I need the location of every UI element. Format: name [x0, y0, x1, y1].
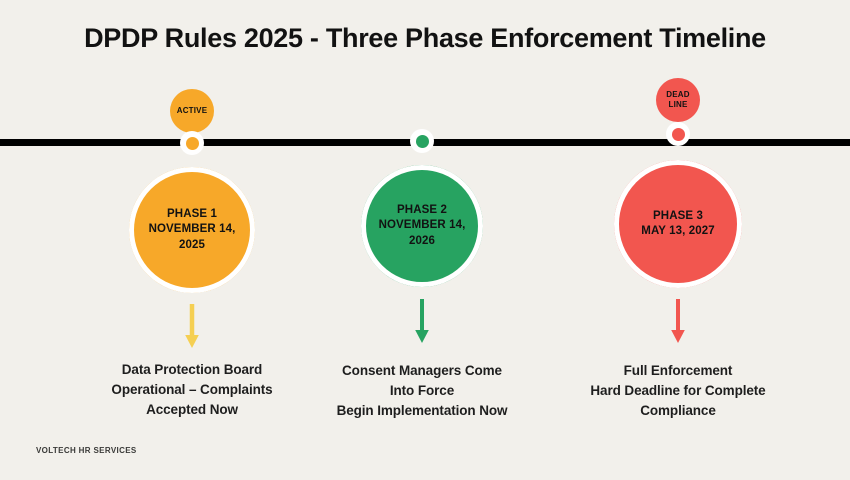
phase-description-2: Consent Managers Come Into Force Begin I…: [297, 361, 547, 421]
phase-column-3: DEAD LINE PHASE 3 MAY 13, 2027 Full Enfo…: [548, 0, 808, 480]
marker-dot-1: [186, 137, 199, 150]
phase-circle-3-label: PHASE 3 MAY 13, 2027: [629, 209, 726, 239]
phase-3-date-line1: MAY 13, 2027: [641, 224, 714, 239]
phase-2-desc-line3: Begin Implementation Now: [297, 401, 547, 421]
arrow-down-icon-3: [667, 298, 689, 349]
phase-3-desc-line2: Hard Deadline for Complete: [553, 381, 803, 401]
phase-circle-1[interactable]: PHASE 1 NOVEMBER 14, 2025: [129, 167, 255, 293]
phase-description-1: Data Protection Board Operational – Comp…: [67, 360, 317, 420]
phase-3-name: PHASE 3: [641, 209, 714, 224]
phase-2-name: PHASE 2: [379, 203, 466, 218]
phase-1-desc-line2: Operational – Complaints: [67, 380, 317, 400]
phase-2-desc-line2: Into Force: [297, 381, 547, 401]
phase-1-desc-line1: Data Protection Board: [67, 360, 317, 380]
marker-dot-2: [416, 135, 429, 148]
timeline-marker-2: [410, 129, 434, 153]
timeline-marker-1: [180, 131, 204, 155]
arrow-down-icon-1: [181, 303, 203, 354]
status-badge-deadline: DEAD LINE: [656, 78, 700, 122]
phase-1-name: PHASE 1: [149, 207, 236, 222]
phase-3-desc-line1: Full Enforcement: [553, 361, 803, 381]
phase-2-desc-line1: Consent Managers Come: [297, 361, 547, 381]
status-badge-active: ACTIVE: [170, 89, 214, 133]
phase-circle-3-ring: PHASE 3 MAY 13, 2027: [614, 160, 742, 288]
phase-1-date-line1: NOVEMBER 14,: [149, 222, 236, 237]
phase-2-date-line2: 2026: [379, 234, 466, 249]
phase-3-desc-line3: Compliance: [553, 401, 803, 421]
timeline-marker-3: [666, 122, 690, 146]
status-badge-deadline-line1: DEAD: [666, 90, 689, 100]
phase-1-date-line2: 2025: [149, 238, 236, 253]
phase-circle-3[interactable]: PHASE 3 MAY 13, 2027: [614, 160, 742, 288]
phase-circle-2[interactable]: PHASE 2 NOVEMBER 14, 2026: [361, 165, 483, 287]
footer-brand: VOLTECH HR SERVICES: [36, 446, 137, 455]
phase-circle-1-ring: PHASE 1 NOVEMBER 14, 2025: [129, 167, 255, 293]
phase-circle-2-label: PHASE 2 NOVEMBER 14, 2026: [367, 203, 478, 249]
phase-column-1: ACTIVE PHASE 1 NOVEMBER 14, 2025 Data Pr…: [62, 0, 322, 480]
phase-1-desc-line3: Accepted Now: [67, 400, 317, 420]
phase-column-2: PHASE 2 NOVEMBER 14, 2026 Consent Manage…: [292, 0, 552, 480]
status-badge-line1: ACTIVE: [177, 106, 208, 116]
phase-circle-1-label: PHASE 1 NOVEMBER 14, 2025: [137, 207, 248, 253]
status-badge-deadline-line2: LINE: [668, 100, 687, 110]
phase-circle-2-ring: PHASE 2 NOVEMBER 14, 2026: [361, 165, 483, 287]
arrow-down-icon-2: [411, 298, 433, 349]
infographic-canvas: DPDP Rules 2025 - Three Phase Enforcemen…: [0, 0, 850, 480]
phase-2-date-line1: NOVEMBER 14,: [379, 218, 466, 233]
phase-description-3: Full Enforcement Hard Deadline for Compl…: [553, 361, 803, 421]
marker-dot-3: [672, 128, 685, 141]
